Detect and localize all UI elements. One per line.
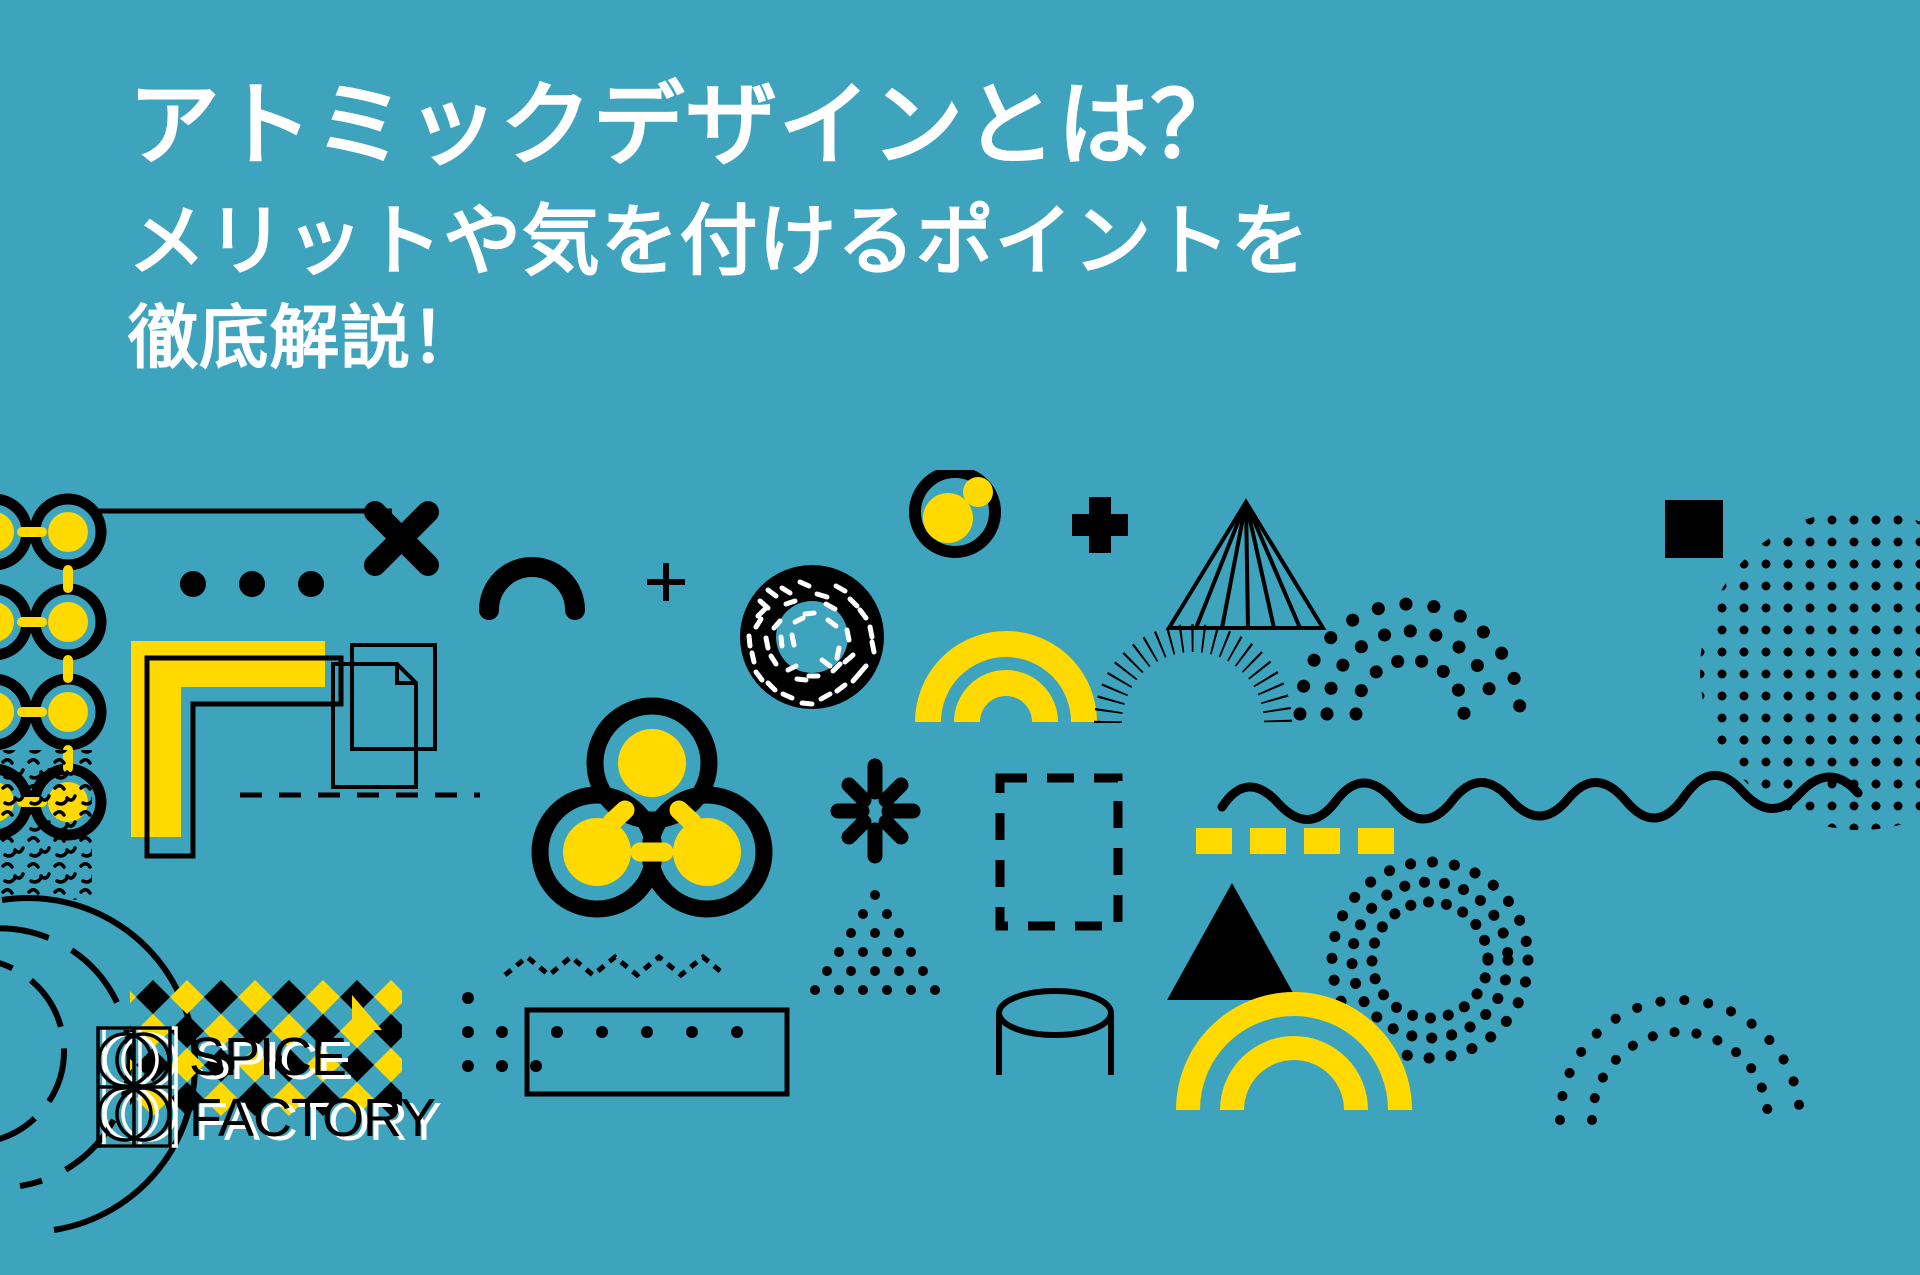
speckled-donut bbox=[740, 565, 884, 709]
dashed-arch bbox=[1108, 638, 1278, 723]
yellow-bars bbox=[1196, 828, 1394, 854]
atom-orbit bbox=[915, 472, 995, 552]
black-square bbox=[1665, 500, 1723, 558]
logo-wordmark: SPICE SPICE FACTORY FACTORY bbox=[189, 1027, 441, 1152]
page-title: アトミックデザインとは？ メリットや気を付けるポイントを 徹底解説！ bbox=[128, 72, 1428, 379]
three-dots bbox=[180, 571, 324, 597]
bottom-yellow-rainbow bbox=[1188, 1004, 1400, 1110]
headline-line-2: メリットや気を付けるポイントを bbox=[128, 195, 1428, 287]
plus-small bbox=[647, 563, 685, 601]
stacked-pages bbox=[333, 645, 435, 787]
dashed-rectangle bbox=[1000, 778, 1118, 926]
hero-banner: アトミックデザインとは？ メリットや気を付けるポイントを 徹底解説！ bbox=[0, 0, 1920, 1275]
yellow-corner-bracket bbox=[131, 641, 325, 837]
spice-factory-logo[interactable]: SPICE SPICE FACTORY FACTORY bbox=[95, 1022, 495, 1152]
plus-large bbox=[1072, 497, 1128, 553]
logo-line1-black: SPICE bbox=[189, 1027, 346, 1087]
dotted-triangle bbox=[810, 890, 940, 995]
cross-x bbox=[375, 512, 428, 565]
headline-line-3: 徹底解説！ bbox=[128, 297, 1428, 380]
dotted-rainbow bbox=[1300, 604, 1520, 714]
headline-line-1: アトミックデザインとは？ bbox=[128, 72, 1428, 181]
texture-scribble bbox=[0, 750, 92, 900]
yellow-rainbow bbox=[928, 644, 1084, 722]
solid-triangle bbox=[1167, 883, 1297, 1000]
arch-stroke bbox=[489, 567, 575, 610]
decorative-art-layer bbox=[0, 470, 1920, 1275]
zigzag-dashes bbox=[505, 957, 725, 975]
dotted-edge-rectangle bbox=[527, 1010, 787, 1094]
hatched-triangle bbox=[1169, 502, 1323, 628]
bottom-halftone-arcs bbox=[1560, 1000, 1800, 1120]
spice-factory-monogram-icon bbox=[98, 1028, 176, 1146]
logo-line2-black: FACTORY bbox=[189, 1088, 435, 1148]
molecule-trio bbox=[540, 706, 764, 909]
cylinder-outline bbox=[999, 991, 1111, 1075]
sparkle-burst bbox=[838, 766, 913, 856]
